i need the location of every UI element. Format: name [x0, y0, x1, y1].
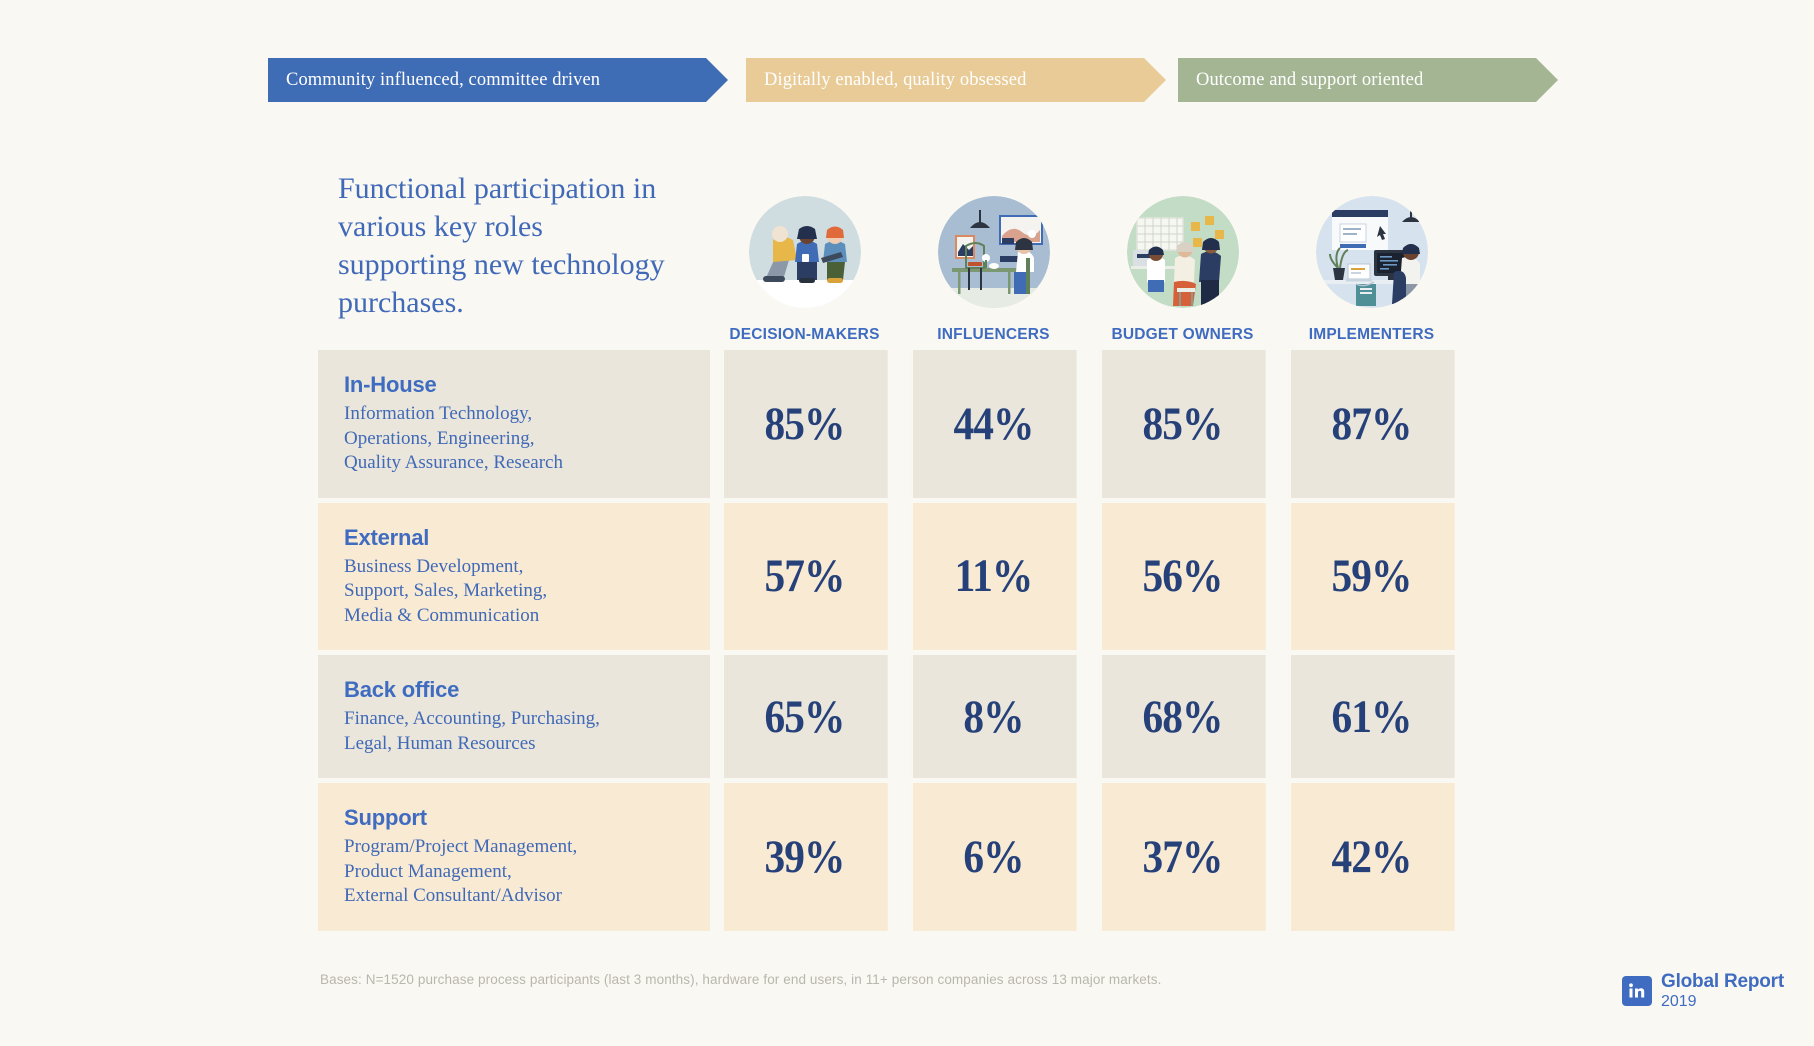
banner-segment-1-label: Community influenced, committee driven [286, 71, 600, 90]
row-description-line: Operations, Engineering, [344, 427, 682, 452]
banner-segment-1: Community influenced, committee driven [268, 58, 728, 102]
row-description-line: Business Development, [344, 555, 682, 580]
value-cell: 57% [721, 503, 887, 651]
value-cell: 11% [910, 503, 1076, 651]
value-cell: 68% [1099, 655, 1265, 778]
row-description-line: Media & Communication [344, 604, 682, 629]
table-row: In-House Information Technology, Operati… [318, 350, 710, 498]
column-header-influencers: INFLUENCERS [899, 168, 1088, 350]
influencers-illustration-icon [938, 196, 1050, 308]
stage-banner: Community influenced, committee driven D… [268, 58, 1558, 102]
participation-table: In-House Information Technology, Operati… [318, 350, 1466, 931]
row-title: External [344, 525, 682, 551]
banner-segment-2: Digitally enabled, quality obsessed [746, 58, 1166, 102]
column-header-decision-makers: DECISION-MAKERS [710, 168, 899, 350]
brand-line-2: 2019 [1661, 994, 1784, 1011]
value-cell: 44% [910, 350, 1076, 498]
header-spacer [318, 168, 710, 350]
row-description: Information Technology, Operations, Engi… [344, 402, 682, 476]
value-cell: 42% [1288, 783, 1454, 931]
brand-text: Global Report 2019 [1661, 972, 1784, 1011]
value-cell: 85% [721, 350, 887, 498]
linkedin-icon [1622, 976, 1652, 1006]
infographic-page: Community influenced, committee driven D… [0, 0, 1814, 1046]
row-title: In-House [344, 372, 682, 398]
table-row: Support Program/Project Management, Prod… [318, 783, 710, 931]
row-description: Program/Project Management, Product Mana… [344, 835, 682, 909]
row-description-line: Legal, Human Resources [344, 732, 682, 757]
table-row: Back office Finance, Accounting, Purchas… [318, 655, 710, 778]
banner-segment-3: Outcome and support oriented [1178, 58, 1558, 102]
budget-owners-illustration-icon [1127, 196, 1239, 308]
row-description-line: Information Technology, [344, 402, 682, 427]
value-cell: 65% [721, 655, 887, 778]
value-cell: 56% [1099, 503, 1265, 651]
column-header-label: DECISION-MAKERS [729, 326, 879, 344]
value-cell: 8% [910, 655, 1076, 778]
row-description-line: Program/Project Management, [344, 835, 682, 860]
banner-segment-3-label: Outcome and support oriented [1196, 71, 1423, 90]
implementers-illustration-icon [1316, 196, 1428, 308]
row-description-line: Product Management, [344, 860, 682, 885]
row-description-line: Quality Assurance, Research [344, 451, 682, 476]
row-description-line: Finance, Accounting, Purchasing, [344, 707, 682, 732]
table-header-row: DECISION-MAKERS [318, 168, 1466, 350]
column-header-label: BUDGET OWNERS [1111, 326, 1253, 344]
row-description-line: Support, Sales, Marketing, [344, 579, 682, 604]
value-cell: 39% [721, 783, 887, 931]
column-header-label: IMPLEMENTERS [1309, 326, 1435, 344]
value-cell: 85% [1099, 350, 1265, 498]
footnote-text: Bases: N=1520 purchase process participa… [320, 972, 1161, 987]
value-cell: 6% [910, 783, 1076, 931]
row-description-line: External Consultant/Advisor [344, 884, 682, 909]
decision-makers-illustration-icon [749, 196, 861, 308]
table-row: External Business Development, Support, … [318, 503, 710, 651]
brand-line-1: Global Report [1661, 972, 1784, 992]
brand-lockup: Global Report 2019 [1622, 972, 1784, 1011]
column-header-budget-owners: BUDGET OWNERS [1088, 168, 1277, 350]
value-cell: 37% [1099, 783, 1265, 931]
banner-segment-2-label: Digitally enabled, quality obsessed [764, 71, 1026, 90]
value-cell: 59% [1288, 503, 1454, 651]
row-description: Finance, Accounting, Purchasing, Legal, … [344, 707, 682, 756]
value-cell: 61% [1288, 655, 1454, 778]
value-cell: 87% [1288, 350, 1454, 498]
row-title: Support [344, 805, 682, 831]
row-description: Business Development, Support, Sales, Ma… [344, 555, 682, 629]
row-title: Back office [344, 677, 682, 703]
column-header-label: INFLUENCERS [937, 326, 1049, 344]
column-header-implementers: IMPLEMENTERS [1277, 168, 1466, 350]
